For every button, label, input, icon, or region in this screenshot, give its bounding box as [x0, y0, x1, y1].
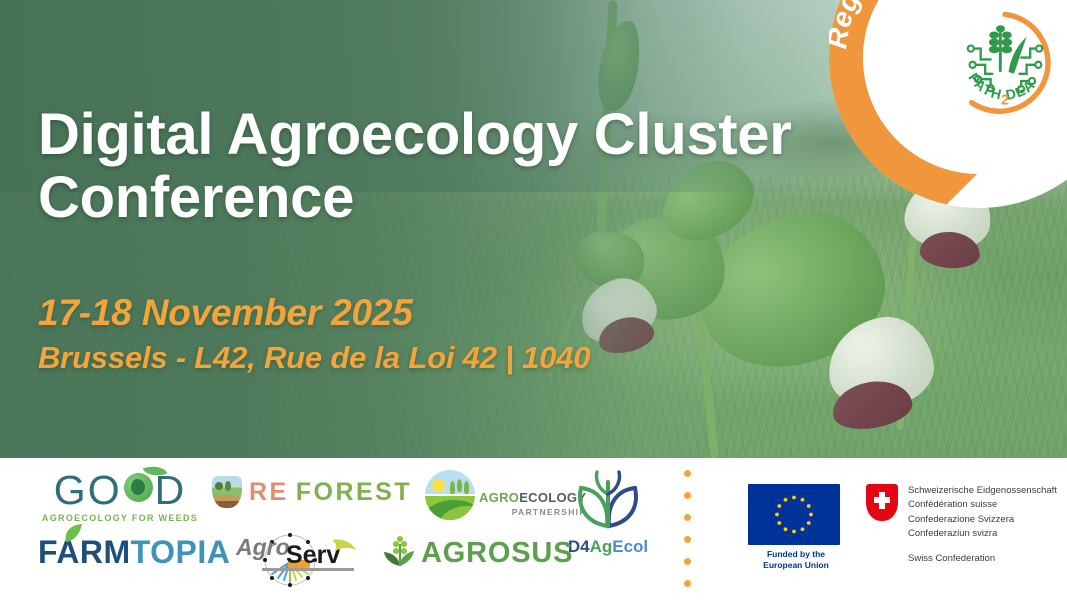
- logo-reforest[interactable]: REFOREST: [212, 476, 412, 508]
- agroserv-bird-icon: [330, 536, 358, 558]
- logo-agroserv[interactable]: Agro Serv: [232, 530, 360, 588]
- agrosus-wordmark: AGROSUS: [421, 537, 573, 570]
- swiss-line-4: Confederaziun svizra: [908, 527, 1057, 541]
- event-date: 17-18 November 2025: [38, 291, 938, 335]
- good-globe-icon: [122, 473, 155, 507]
- agroecology-landscape-icon: [425, 470, 475, 520]
- event-location: Brussels - L42, Rue de la Loi 42 | 1040: [38, 339, 938, 376]
- reforest-landscape-icon: [212, 476, 242, 508]
- swiss-cross-icon: [866, 484, 898, 521]
- agroserv-bar: [262, 568, 354, 571]
- farmtopia-suffix: TOPIA: [131, 534, 231, 570]
- path2dea-two: 2: [1001, 92, 1009, 108]
- divider-dot: [684, 492, 691, 499]
- agrosus-plant-icon: [382, 536, 418, 570]
- logo-agrosus[interactable]: AGROSUS: [382, 536, 573, 570]
- title-block: Digital Agroecology Cluster Conference: [38, 104, 898, 229]
- logo-swiss-confederation[interactable]: Schweizerische Eidgenossenschaft Confédé…: [866, 484, 1057, 564]
- page-title: Digital Agroecology Cluster Conference: [38, 104, 898, 229]
- logo-good[interactable]: GO D AGROECOLOGY FOR WEEDS: [40, 470, 200, 523]
- reforest-prefix: RE: [249, 478, 289, 507]
- divider-dot: [684, 514, 691, 521]
- reforest-suffix: FOREST: [296, 478, 412, 507]
- d4agecol-part-3: Ecol: [612, 537, 648, 556]
- logo-european-union[interactable]: Funded by the European Union: [748, 484, 844, 570]
- agroecology-word-1: AGRO: [479, 490, 519, 505]
- title-line-1: Digital Agroecology Cluster: [38, 102, 792, 167]
- eu-flag-icon: [748, 484, 840, 545]
- swiss-short-name: Swiss Confederation: [908, 553, 1057, 564]
- swiss-text-block: Schweizerische Eidgenossenschaft Confédé…: [908, 484, 1057, 564]
- d4agecol-wordmark: D4AgEcol: [560, 537, 656, 557]
- divider-dot: [684, 536, 691, 543]
- divider-dot: [684, 580, 691, 587]
- d4agecol-leaf-icon: [569, 468, 647, 530]
- farmtopia-sprout-icon: [56, 522, 90, 544]
- d4agecol-part-2: Ag: [590, 537, 613, 556]
- swiss-line-1: Schweizerische Eidgenossenschaft: [908, 484, 1057, 498]
- good-wordmark: GO D: [40, 470, 200, 510]
- eu-caption-line-1: Funded by the: [748, 549, 844, 560]
- divider-dot: [684, 558, 691, 565]
- title-line-2: Conference: [38, 167, 898, 230]
- conference-banner: Digital Agroecology Cluster Conference 1…: [0, 0, 1067, 600]
- logo-d4agecol[interactable]: D4AgEcol: [560, 468, 656, 557]
- swiss-line-3: Confederazione Svizzera: [908, 513, 1057, 527]
- divider-dot: [684, 470, 691, 477]
- partner-logo-bar: GO D AGROECOLOGY FOR WEEDS REFOREST: [0, 458, 1067, 600]
- good-word-end: D: [155, 470, 187, 511]
- agroserv-prefix: Agro: [236, 534, 290, 561]
- path2dea-logo: PATH DEA 2: [951, 9, 1059, 117]
- good-word-start: GO: [54, 470, 122, 511]
- eu-caption-line-2: European Union: [748, 560, 844, 571]
- event-meta: 17-18 November 2025 Brussels - L42, Rue …: [38, 291, 938, 376]
- eu-funding-caption: Funded by the European Union: [748, 549, 844, 570]
- logo-farmtopia[interactable]: FARMTOPIA: [38, 534, 230, 571]
- swiss-line-2: Confédération suisse: [908, 498, 1057, 512]
- register-corner[interactable]: Register now!: [822, 0, 1067, 215]
- dotted-divider: [684, 470, 692, 592]
